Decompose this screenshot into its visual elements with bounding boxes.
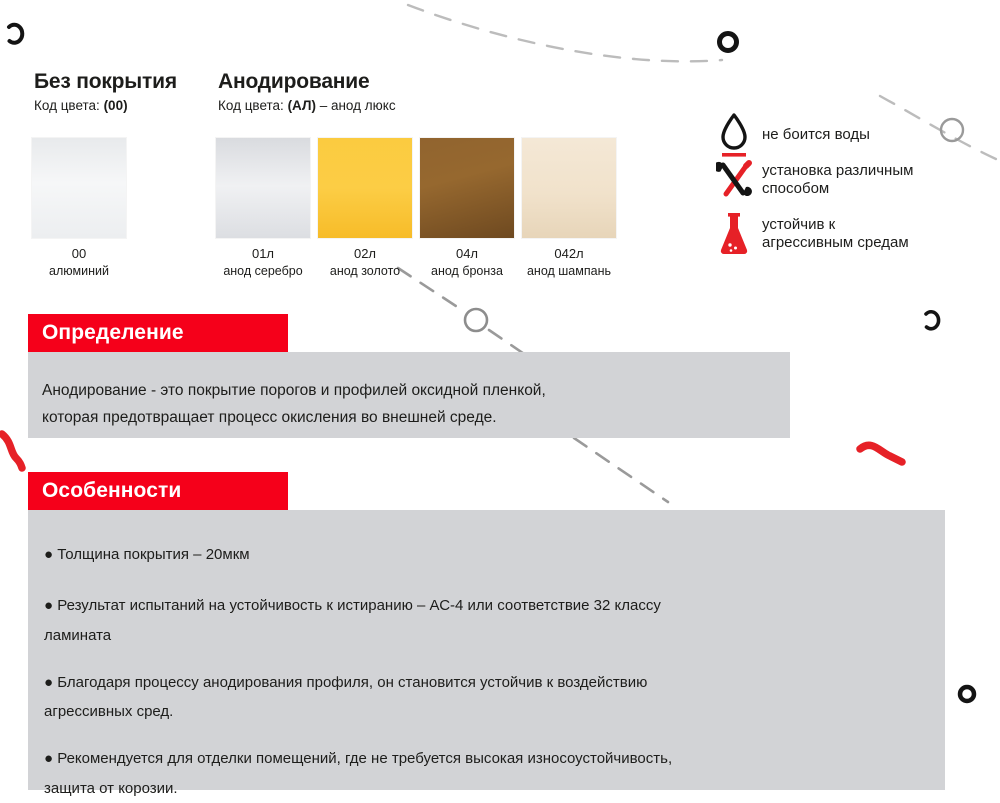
ring-dot-bottom-right bbox=[960, 687, 974, 701]
crescent-right bbox=[926, 312, 939, 329]
swatch-item[interactable]: 04л анод бронза bbox=[420, 138, 514, 279]
feature-line-1: не боится воды bbox=[762, 126, 870, 144]
feature-line-2: способом bbox=[762, 180, 913, 198]
ring-outline-middle bbox=[465, 309, 487, 331]
property-item: ● Результат испытаний на устойчивость к … bbox=[44, 591, 945, 650]
definition-panel: Анодирование - это покрытие порогов и пр… bbox=[28, 352, 790, 438]
feature-line-2: агрессивным средам bbox=[762, 234, 909, 252]
property-line-1: ● Результат испытаний на устойчивость к … bbox=[44, 591, 945, 620]
swatch-code: 042л bbox=[522, 245, 616, 263]
property-item: ● Рекомендуется для отделки помещений, г… bbox=[44, 744, 945, 803]
swatch-code: 04л bbox=[420, 245, 514, 263]
properties-panel: ● Толщина покрытия – 20мкм ● Результат и… bbox=[28, 510, 945, 790]
swatch-code: 02л bbox=[318, 245, 412, 263]
property-line-1: ● Благодаря процессу анодирования профил… bbox=[44, 668, 945, 697]
swatch-item[interactable]: 00 алюминий bbox=[32, 138, 126, 279]
swatch-color-02l bbox=[318, 138, 412, 238]
column-heading-uncoated: Без покрытия Код цвета: (00) bbox=[34, 70, 177, 113]
definition-line-1: Анодирование - это покрытие порогов и пр… bbox=[42, 378, 790, 405]
swatch-item[interactable]: 01л анод серебро bbox=[216, 138, 310, 279]
definition-banner: Определение bbox=[28, 314, 288, 352]
ring-dot-top bbox=[720, 34, 737, 51]
swatch-name: анод золото bbox=[318, 263, 412, 280]
property-line-1: ● Толщина покрытия – 20мкм bbox=[44, 540, 945, 569]
column-subtitle: Код цвета: (00) bbox=[34, 98, 177, 113]
red-squiggle-left bbox=[2, 434, 22, 468]
swatch-color-01l bbox=[216, 138, 310, 238]
column-title: Без покрытия bbox=[34, 70, 177, 93]
swatch-code: 00 bbox=[32, 245, 126, 263]
property-item: ● Благодаря процессу анодирования профил… bbox=[44, 668, 945, 727]
feature-water: не боится воды bbox=[712, 112, 870, 158]
swatch-name: анод серебро bbox=[216, 263, 310, 280]
definition-line-2: которая предотвращает процесс окисления … bbox=[42, 405, 790, 432]
dashed-diagonal-lower bbox=[574, 438, 668, 502]
tools-icon bbox=[712, 160, 756, 200]
feature-line-1: устойчив к bbox=[762, 216, 909, 234]
swatch-color-04l bbox=[420, 138, 514, 238]
property-line-2: агрессивных сред. bbox=[44, 697, 945, 726]
feature-text: устойчив к агрессивным средам bbox=[762, 216, 909, 253]
feature-installation: установка различным способом bbox=[712, 160, 913, 200]
swatch-name: алюминий bbox=[32, 263, 126, 280]
column-title: Анодирование bbox=[218, 70, 396, 93]
flask-icon bbox=[712, 212, 756, 256]
water-drop-icon bbox=[712, 112, 756, 158]
crescent-top-left bbox=[9, 25, 22, 43]
swatch-item[interactable]: 02л анод золото bbox=[318, 138, 412, 279]
swatch-name: анод бронза bbox=[420, 263, 514, 280]
property-item: ● Толщина покрытия – 20мкм bbox=[44, 540, 945, 569]
swatch-color-00 bbox=[32, 138, 126, 238]
column-subtitle-prefix: Код цвета: bbox=[218, 98, 288, 113]
swatch-name: анод шампань bbox=[522, 263, 616, 280]
feature-line-1: установка различным bbox=[762, 162, 913, 180]
swatch-color-042l bbox=[522, 138, 616, 238]
column-subtitle-suffix: – анод люкс bbox=[316, 98, 396, 113]
infographic-page: Без покрытия Код цвета: (00) Анодировани… bbox=[0, 0, 1000, 800]
column-subtitle-code: (00) bbox=[104, 98, 128, 113]
feature-text: не боится воды bbox=[762, 126, 870, 144]
property-line-2: защита от корозии. bbox=[44, 774, 945, 803]
feature-chemical-resistance: устойчив к агрессивным средам bbox=[712, 212, 909, 256]
property-line-2: ламината bbox=[44, 621, 945, 650]
dashed-arc-top bbox=[408, 5, 722, 61]
column-subtitle-code: (АЛ) bbox=[288, 98, 316, 113]
swatch-item[interactable]: 042л анод шампань bbox=[522, 138, 616, 279]
column-subtitle: Код цвета: (АЛ) – анод люкс bbox=[218, 98, 396, 113]
column-subtitle-prefix: Код цвета: bbox=[34, 98, 104, 113]
swatch-code: 01л bbox=[216, 245, 310, 263]
red-squiggle-right bbox=[860, 445, 902, 462]
property-line-1: ● Рекомендуется для отделки помещений, г… bbox=[44, 744, 945, 773]
dashed-arc-right bbox=[880, 96, 998, 160]
properties-banner: Особенности bbox=[28, 472, 288, 510]
feature-text: установка различным способом bbox=[762, 162, 913, 199]
ring-outline-right bbox=[941, 119, 963, 141]
column-heading-anodized: Анодирование Код цвета: (АЛ) – анод люкс bbox=[218, 70, 396, 113]
